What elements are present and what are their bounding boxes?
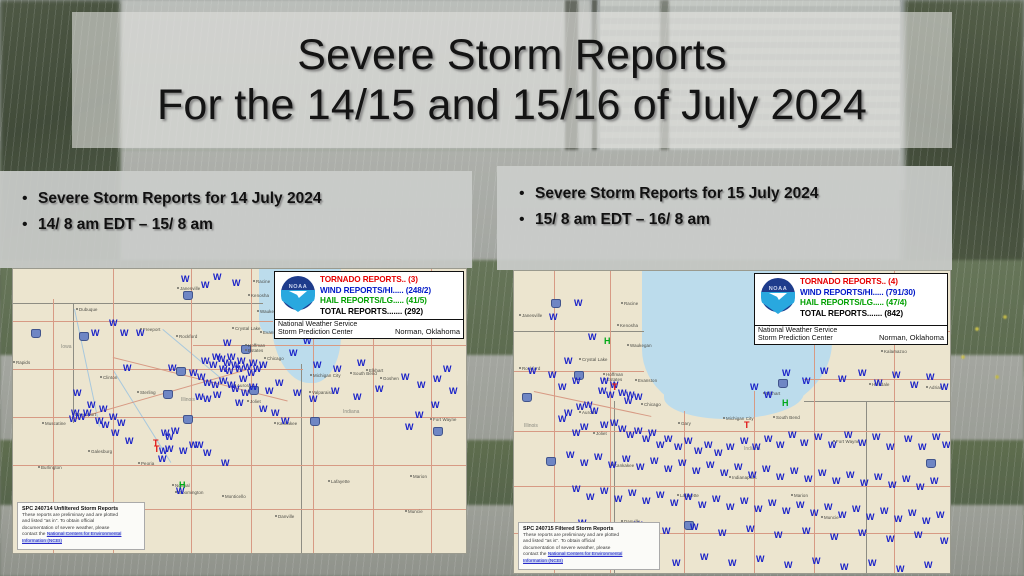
wind-report-marker: W xyxy=(888,481,897,490)
ncei-link[interactable]: National Centers for Environmental xyxy=(548,552,623,557)
wind-report-marker: W xyxy=(664,465,673,474)
wind-report-marker: W xyxy=(109,319,118,328)
wind-report-marker: W xyxy=(858,369,867,378)
interstate-shield-icon xyxy=(551,299,561,308)
wind-report-marker: W xyxy=(624,397,633,406)
wind-report-marker: W xyxy=(756,555,765,564)
legend-row-total: TOTAL REPORTS....... (292) xyxy=(320,307,461,318)
spc-caption-left: SPC 240714 Unfiltered Storm Reports Thes… xyxy=(17,502,145,550)
wind-report-marker: W xyxy=(726,443,735,452)
wind-report-marker: W xyxy=(692,467,701,476)
wind-report-marker: W xyxy=(120,329,129,338)
wind-report-marker: W xyxy=(802,527,811,536)
wind-report-marker: W xyxy=(548,371,557,380)
city-dot xyxy=(579,358,581,360)
wind-report-marker: W xyxy=(764,435,773,444)
interstate-shield-icon xyxy=(163,390,173,399)
highway xyxy=(13,321,273,322)
city-label: Chicago xyxy=(644,402,661,407)
wind-report-marker: W xyxy=(168,364,177,373)
wind-report-marker: W xyxy=(700,553,709,562)
wind-report-marker: W xyxy=(718,529,727,538)
wind-report-marker: W xyxy=(608,461,617,470)
state-label: Illinois xyxy=(524,423,538,429)
city-label: Janesville xyxy=(180,286,200,291)
wind-report-marker: W xyxy=(916,483,925,492)
city-label: Elkhart xyxy=(369,368,383,373)
city-label: Kalamazoo xyxy=(884,349,907,354)
wind-report-marker: W xyxy=(720,469,729,478)
city-dot xyxy=(328,480,330,482)
left-panel: • Severe Storm Reports for 14 July 2024 … xyxy=(0,171,472,556)
wind-report-marker: W xyxy=(782,369,791,378)
wind-report-marker: W xyxy=(600,487,609,496)
wind-report-marker: W xyxy=(101,421,110,430)
city-dot xyxy=(593,432,595,434)
wind-report-marker: W xyxy=(650,457,659,466)
city-dot xyxy=(821,516,823,518)
slide-title-band: Severe Storm Reports For the 14/15 and 1… xyxy=(72,12,952,148)
wind-report-marker: W xyxy=(642,497,651,506)
city-dot xyxy=(678,422,680,424)
wind-report-marker: W xyxy=(858,439,867,448)
city-label: Rapids xyxy=(16,360,30,365)
city-dot xyxy=(247,400,249,402)
wind-report-marker: W xyxy=(734,463,743,472)
wind-report-marker: W xyxy=(796,501,805,510)
city-dot xyxy=(519,367,521,369)
legend-top: NOAA TORNADO REPORTS.. (4) WIND REPORTS/… xyxy=(755,274,947,325)
city-label: Sterling xyxy=(140,390,156,395)
wind-report-marker: W xyxy=(549,313,558,322)
city-label: Danville xyxy=(278,514,294,519)
city-dot xyxy=(603,373,605,375)
city-dot xyxy=(621,302,623,304)
wind-report-marker: W xyxy=(828,441,837,450)
caption-body: These reports are preliminary and are pl… xyxy=(22,513,140,545)
wind-report-marker: W xyxy=(818,469,827,478)
city-label: Dubuque xyxy=(79,307,98,312)
state-boundary xyxy=(804,401,951,402)
wind-report-marker: W xyxy=(564,357,573,366)
wind-report-marker: W xyxy=(858,529,867,538)
interstate-shield-icon xyxy=(31,329,41,338)
state-boundary xyxy=(13,303,263,304)
wind-report-marker: W xyxy=(886,535,895,544)
city-label: Lafayette xyxy=(331,479,350,484)
wind-report-marker: W xyxy=(405,423,414,432)
city-dot xyxy=(309,391,311,393)
legend-row-total: TOTAL REPORTS....... (842) xyxy=(800,309,945,320)
wind-report-marker: W xyxy=(894,515,903,524)
city-dot xyxy=(38,466,40,468)
city-label: South Bend xyxy=(776,415,800,420)
city-dot xyxy=(366,369,368,371)
wind-report-marker: W xyxy=(628,489,637,498)
caption-title: SPC 240715 Filtered Storm Reports xyxy=(523,526,655,533)
hail-report-marker: H xyxy=(604,337,611,346)
wind-report-marker: W xyxy=(784,561,793,570)
interstate-shield-icon xyxy=(926,459,936,468)
wind-report-marker: W xyxy=(872,433,881,442)
city-label: Fort Wayne xyxy=(433,417,457,422)
wind-report-marker: W xyxy=(580,459,589,468)
wind-report-marker: W xyxy=(600,421,609,430)
wind-report-marker: W xyxy=(566,451,575,460)
city-dot xyxy=(88,450,90,452)
wind-report-marker: W xyxy=(648,429,657,438)
wind-report-marker: W xyxy=(698,501,707,510)
city-label: Crystal Lake xyxy=(235,326,261,331)
wind-report-marker: W xyxy=(572,377,581,386)
hail-report-marker: H xyxy=(782,399,789,408)
wind-report-marker: W xyxy=(940,537,949,546)
wind-report-marker: W xyxy=(594,453,603,462)
wind-report-marker: W xyxy=(714,449,723,458)
wind-report-marker: W xyxy=(223,339,232,348)
wind-report-marker: W xyxy=(874,473,883,482)
city-label: Evanston xyxy=(638,378,657,383)
interstate-shield-icon xyxy=(176,367,186,376)
wind-report-marker: W xyxy=(415,411,424,420)
city-label: Racine xyxy=(624,301,638,306)
wind-report-marker: W xyxy=(309,395,318,404)
wind-report-marker: W xyxy=(852,505,861,514)
wind-report-marker: W xyxy=(123,364,132,373)
wind-report-marker: W xyxy=(910,381,919,390)
wind-report-marker: W xyxy=(558,415,567,424)
wind-report-marker: W xyxy=(726,503,735,512)
wind-report-marker: W xyxy=(924,561,933,570)
wind-report-marker: W xyxy=(896,565,905,574)
wind-report-marker: W xyxy=(754,505,763,514)
list-item: • Severe Storm Reports for 14 July 2024 xyxy=(22,189,458,209)
city-label: Kenosha xyxy=(620,323,638,328)
interstate-shield-icon xyxy=(310,417,320,426)
city-label: Muncie xyxy=(408,509,423,514)
city-dot xyxy=(264,357,266,359)
city-dot xyxy=(13,361,15,363)
wind-report-marker: W xyxy=(235,365,244,374)
wind-report-marker: W xyxy=(918,443,927,452)
right-panel: • Severe Storm Reports for 15 July 2024 … xyxy=(497,166,952,576)
wind-report-marker: W xyxy=(860,479,869,488)
state-label: Iowa xyxy=(61,344,72,350)
wind-report-marker: W xyxy=(333,365,342,374)
noaa-logo-icon: NOAA xyxy=(278,275,318,313)
city-dot xyxy=(380,377,382,379)
wind-report-marker: W xyxy=(73,389,82,398)
wind-report-marker: W xyxy=(275,379,284,388)
wind-report-marker: W xyxy=(838,511,847,520)
bullet-icon: • xyxy=(22,189,38,209)
city-label: Clinton xyxy=(103,375,117,380)
interstate-shield-icon xyxy=(183,291,193,300)
city-label: Gary xyxy=(681,421,691,426)
wind-report-marker: W xyxy=(572,429,581,438)
wind-report-marker: W xyxy=(926,373,935,382)
tornado-report-marker: T xyxy=(612,383,618,392)
wind-report-marker: W xyxy=(886,443,895,452)
wind-report-marker: W xyxy=(271,409,280,418)
caption-title: SPC 240714 Unfiltered Storm Reports xyxy=(22,506,140,513)
wind-report-marker: W xyxy=(820,367,829,376)
interstate-shield-icon xyxy=(522,393,532,402)
wind-report-marker: W xyxy=(443,365,452,374)
city-label: Rockford xyxy=(179,334,197,339)
city-dot xyxy=(617,324,619,326)
noaa-logo-text: NOAA xyxy=(278,284,318,290)
wind-report-marker: W xyxy=(800,439,809,448)
city-label: Joliet xyxy=(596,431,607,436)
interstate-shield-icon xyxy=(778,379,788,388)
wind-report-marker: W xyxy=(417,381,426,390)
wind-report-marker: W xyxy=(136,329,145,338)
wind-report-marker: W xyxy=(740,437,749,446)
city-label: Racine xyxy=(256,279,270,284)
wind-report-marker: W xyxy=(111,429,120,438)
city-dot xyxy=(222,495,224,497)
city-label: Peoria xyxy=(141,461,154,466)
wind-report-marker: W xyxy=(684,493,693,502)
wind-report-marker: W xyxy=(289,349,298,358)
ncei-link-2[interactable]: Information (NCEI) xyxy=(523,559,563,564)
wind-report-marker: W xyxy=(706,461,715,470)
wind-report-marker: W xyxy=(662,527,671,536)
city-dot xyxy=(260,331,262,333)
interstate-shield-icon xyxy=(183,415,193,424)
wind-report-marker: W xyxy=(158,455,167,464)
legend-footer: National Weather Service Storm Predictio… xyxy=(755,325,947,344)
wind-report-marker: W xyxy=(750,383,759,392)
wind-report-marker: W xyxy=(580,423,589,432)
interstate-shield-icon xyxy=(79,332,89,341)
wind-report-marker: W xyxy=(776,441,785,450)
highway xyxy=(251,269,252,554)
wind-report-marker: W xyxy=(804,475,813,484)
wind-report-marker: W xyxy=(259,405,268,414)
wind-report-marker: W xyxy=(678,459,687,468)
legend-row-tornado: TORNADO REPORTS.. (3) xyxy=(320,275,461,286)
wind-report-marker: W xyxy=(195,393,204,402)
spc-legend-right: NOAA TORNADO REPORTS.. (4) WIND REPORTS/… xyxy=(754,273,948,345)
wind-report-marker: W xyxy=(606,391,615,400)
city-label: Marion xyxy=(794,493,808,498)
wind-report-marker: W xyxy=(181,275,190,284)
city-dot xyxy=(176,335,178,337)
wind-report-marker: W xyxy=(674,443,683,452)
wind-report-marker: W xyxy=(914,531,923,540)
wind-report-marker: W xyxy=(704,441,713,450)
city-dot xyxy=(137,391,139,393)
wind-report-marker: W xyxy=(868,559,877,568)
city-dot xyxy=(232,327,234,329)
wind-report-marker: W xyxy=(728,559,737,568)
wind-report-marker: W xyxy=(600,377,609,386)
wind-report-marker: W xyxy=(213,273,222,282)
wind-report-marker: W xyxy=(586,493,595,502)
city-dot xyxy=(723,417,725,419)
bullet-text: Severe Storm Reports for 14 July 2024 xyxy=(38,189,321,209)
highway xyxy=(13,465,467,466)
city-dot xyxy=(627,344,629,346)
city-label: Kenosha xyxy=(251,293,269,298)
wind-report-marker: W xyxy=(664,435,673,444)
city-dot xyxy=(100,376,102,378)
legend-row-tornado: TORNADO REPORTS.. (4) xyxy=(800,277,945,288)
city-label: Waukegan xyxy=(630,343,652,348)
wind-report-marker: W xyxy=(117,419,126,428)
wind-report-marker: W xyxy=(636,463,645,472)
legend-location: Norman, Oklahoma xyxy=(879,333,944,343)
wind-report-marker: W xyxy=(694,447,703,456)
wind-report-marker: W xyxy=(746,525,755,534)
list-item: • 14/ 8 am EDT – 15/ 8 am xyxy=(22,215,458,235)
caption-body: These reports are preliminary and are pl… xyxy=(523,533,655,565)
wind-report-marker: W xyxy=(684,437,693,446)
legend-office: National Weather Service Storm Predictio… xyxy=(758,327,837,343)
wind-report-marker: W xyxy=(588,333,597,342)
city-dot xyxy=(253,280,255,282)
wind-report-marker: W xyxy=(558,383,567,392)
wind-report-marker: W xyxy=(433,375,442,384)
wind-report-marker: W xyxy=(846,471,855,480)
wind-report-marker: W xyxy=(634,393,643,402)
wind-report-marker: W xyxy=(844,431,853,440)
wind-report-marker: W xyxy=(331,387,340,396)
wind-report-marker: W xyxy=(313,361,322,370)
legend-rows: TORNADO REPORTS.. (3) WIND REPORTS/HI...… xyxy=(318,275,461,319)
legend-row-hail: HAIL REPORTS/LG..... (41/5) xyxy=(320,296,461,307)
wind-report-marker: W xyxy=(353,393,362,402)
wind-report-marker: W xyxy=(672,559,681,568)
wind-report-marker: W xyxy=(622,455,631,464)
wind-report-marker: W xyxy=(265,387,274,396)
storm-report-map-left[interactable]: DubuqueJanesvilleFreeportRockfordCrystal… xyxy=(12,268,467,554)
wind-report-marker: W xyxy=(908,509,917,518)
city-label: Estates xyxy=(248,348,263,353)
wind-report-marker: W xyxy=(768,499,777,508)
wind-report-marker: W xyxy=(830,533,839,542)
page-title-line-2: For the 14/15 and 15/16 of July 2024 xyxy=(157,80,867,130)
wind-report-marker: W xyxy=(83,409,92,418)
wind-report-marker: W xyxy=(812,557,821,566)
storm-report-map-right[interactable]: RacineKenoshaWaukeganJanesvilleCrystal L… xyxy=(513,270,951,574)
legend-row-wind: WIND REPORTS/HI..... (248/2) xyxy=(320,286,461,297)
wind-report-marker: W xyxy=(231,385,240,394)
state-label: Illinois xyxy=(181,397,195,403)
wind-report-marker: W xyxy=(762,465,771,474)
wind-report-marker: W xyxy=(431,401,440,410)
wind-report-marker: W xyxy=(788,431,797,440)
city-label: Muncie xyxy=(824,515,839,520)
city-label: Muscatine xyxy=(45,421,66,426)
city-label: Freeport xyxy=(143,327,160,332)
city-dot xyxy=(172,484,174,486)
wind-report-marker: W xyxy=(902,475,911,484)
wind-report-marker: W xyxy=(212,353,221,362)
city-dot xyxy=(519,314,521,316)
city-dot xyxy=(248,294,250,296)
legend-row-wind: WIND REPORTS/HI..... (791/30) xyxy=(800,288,945,299)
wind-report-marker: W xyxy=(774,531,783,540)
list-item: • Severe Storm Reports for 15 July 2024 xyxy=(519,184,938,204)
wind-report-marker: W xyxy=(375,385,384,394)
wind-report-marker: W xyxy=(802,377,811,386)
ncei-link[interactable]: National Centers for Environmental xyxy=(47,532,122,537)
wind-report-marker: W xyxy=(203,449,212,458)
wind-report-marker: W xyxy=(249,383,258,392)
city-dot xyxy=(430,418,432,420)
wind-report-marker: W xyxy=(171,427,180,436)
city-label: Janesville xyxy=(522,313,542,318)
left-bullet-box: • Severe Storm Reports for 14 July 2024 … xyxy=(0,171,472,268)
legend-location: Norman, Oklahoma xyxy=(395,327,460,337)
city-label: Monticello xyxy=(225,494,246,499)
wind-report-marker: W xyxy=(840,563,849,572)
city-dot xyxy=(275,515,277,517)
city-dot xyxy=(274,422,276,424)
wind-report-marker: W xyxy=(764,391,773,400)
city-dot xyxy=(350,372,352,374)
city-label: Chicago xyxy=(267,356,284,361)
highway xyxy=(754,391,755,574)
noaa-logo-icon: NOAA xyxy=(758,277,798,315)
city-dot xyxy=(641,403,643,405)
legend-rows: TORNADO REPORTS.. (4) WIND REPORTS/HI...… xyxy=(798,277,945,325)
wind-report-marker: W xyxy=(69,415,78,424)
city-dot xyxy=(869,383,871,385)
wind-report-marker: W xyxy=(824,503,833,512)
city-label: Burlington xyxy=(41,465,62,470)
legend-footer: National Weather Service Storm Predictio… xyxy=(275,319,463,338)
state-label: Indiana xyxy=(343,409,359,415)
city-dot xyxy=(926,386,928,388)
ncei-link-2[interactable]: Information (NCEI) xyxy=(22,539,62,544)
interstate-shield-icon xyxy=(433,427,443,436)
legend-office: National Weather Service Storm Predictio… xyxy=(278,321,357,337)
city-dot xyxy=(138,462,140,464)
wind-report-marker: W xyxy=(656,491,665,500)
wind-report-marker: W xyxy=(590,407,599,416)
wind-report-marker: W xyxy=(874,379,883,388)
wind-report-marker: W xyxy=(832,477,841,486)
city-dot xyxy=(405,510,407,512)
wind-report-marker: W xyxy=(740,497,749,506)
wind-report-marker: W xyxy=(528,367,537,376)
wind-report-marker: W xyxy=(790,467,799,476)
noaa-logo-text: NOAA xyxy=(758,286,798,292)
wind-report-marker: W xyxy=(866,513,875,522)
list-item: • 15/ 8 am EDT – 16/ 8 am xyxy=(519,210,938,230)
wind-report-marker: W xyxy=(176,487,185,496)
wind-report-marker: W xyxy=(752,443,761,452)
bullet-icon: • xyxy=(519,210,535,230)
wind-report-marker: W xyxy=(748,471,757,480)
wind-report-marker: W xyxy=(357,359,366,368)
bullet-text: 15/ 8 am EDT – 16/ 8 am xyxy=(535,210,710,230)
wind-report-marker: W xyxy=(235,399,244,408)
right-bullet-box: • Severe Storm Reports for 15 July 2024 … xyxy=(497,166,952,270)
spc-legend-left: NOAA TORNADO REPORTS.. (3) WIND REPORTS/… xyxy=(274,271,464,339)
wind-report-marker: W xyxy=(922,517,931,526)
wind-report-marker: W xyxy=(712,495,721,504)
wind-report-marker: W xyxy=(293,389,302,398)
city-dot xyxy=(410,475,412,477)
wind-report-marker: W xyxy=(99,405,108,414)
city-dot xyxy=(729,476,731,478)
city-dot xyxy=(177,287,179,289)
